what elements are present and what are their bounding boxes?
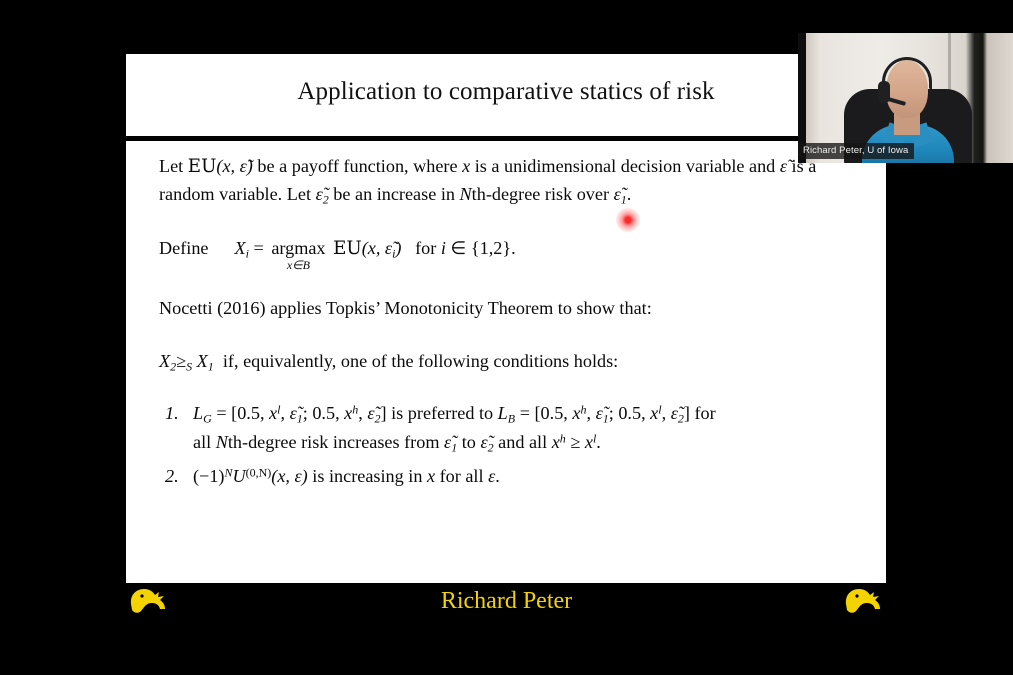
hawk-eye — [140, 594, 143, 597]
LB-eq: = [0.5, — [515, 403, 572, 423]
cont-b: th-degree risk increases from — [228, 432, 444, 452]
semi2: ; 0.5, — [609, 403, 650, 423]
argmax-label: argmax — [271, 239, 325, 257]
define-equation: Xi = argmax x∈B EU(x, ε̃i) for i ∈ {1,2}… — [234, 235, 515, 271]
page-title: Application to comparative statics of ri… — [126, 78, 886, 106]
condition-statement: X2≥S X1 if, equivalently, one of the fol… — [159, 348, 859, 376]
LG: L — [193, 403, 203, 423]
equation-define-argmax: Define Xi = argmax x∈B EU(x, ε̃i) for i … — [159, 235, 859, 271]
cont-d: and all — [494, 432, 552, 452]
close2: ] for — [684, 403, 716, 423]
list-item-number: 1. — [159, 400, 193, 427]
hawk-eye — [855, 594, 858, 597]
list-item: 2. (−1)NU(0,N)(x, ε) is increasing in x … — [159, 463, 859, 490]
conditions-list: 1. LG = [0.5, xl, ε̃1; 0.5, xh, ε̃2] is … — [159, 400, 859, 489]
LG-sub: G — [203, 412, 212, 426]
cont-a: all — [193, 432, 216, 452]
p1-eps1: ε̃ — [780, 156, 787, 176]
semi1: ; 0.5, — [303, 403, 344, 423]
argmax-operator: argmax x∈B — [271, 239, 325, 271]
U-sup: (0,N) — [246, 465, 272, 479]
LB: L — [498, 403, 508, 423]
list-item-body: (−1)NU(0,N)(x, ε) is increasing in x for… — [193, 463, 859, 490]
list-item-body: LG = [0.5, xl, ε̃1; 0.5, xh, ε̃2] is pre… — [193, 400, 859, 456]
p1-part2: be a payoff function, where — [253, 156, 462, 176]
paragraph-nocetti-reference: Nocetti (2016) applies Topkis’ Monotonic… — [159, 295, 859, 322]
xl: x — [269, 403, 277, 423]
cont-eps2: ε̃ — [480, 432, 487, 452]
p1-part1: Let — [159, 156, 188, 176]
LG-eq: = [0.5, — [212, 403, 269, 423]
cond-geq-sub: S — [186, 360, 192, 374]
hawkeye-glyph — [841, 585, 888, 617]
cond-X2: X — [159, 351, 170, 371]
p1-eps2: ε̃ — [316, 184, 323, 204]
p1-N: N — [460, 184, 472, 204]
cond-geq: ≥ — [176, 351, 186, 371]
cont-c: to — [457, 432, 480, 452]
slide: Application to comparative statics of ri… — [126, 54, 886, 583]
eps-2: ε̃ — [367, 403, 374, 423]
define-EU-args-open: (x, ε̃ — [362, 238, 392, 258]
p1-part7: . — [627, 184, 632, 204]
laser-pointer-dot — [616, 208, 640, 232]
eps-3: ε̃ — [596, 403, 603, 423]
neg-one-open: (−1) — [193, 466, 224, 486]
cont-geq: ≥ — [566, 432, 585, 452]
expected-utility-symbol: EU — [188, 156, 217, 177]
slide-body: Let EU(x, ε̃) be a payoff function, wher… — [159, 153, 859, 496]
mid1: , — [280, 403, 289, 423]
U-symbol: U — [232, 466, 245, 486]
define-X: X — [234, 238, 245, 258]
cont-xh: x — [552, 432, 560, 452]
cont-xl: x — [585, 432, 593, 452]
p1-eps3: ε̃ — [614, 184, 621, 204]
eps-1: ε̃ — [290, 403, 297, 423]
iowa-hawkeye-logo-icon — [126, 585, 173, 617]
hawkeye-glyph — [126, 585, 173, 617]
list-item-number: 2. — [159, 463, 193, 490]
eps-4: ε̃ — [671, 403, 678, 423]
slide-title-area: Application to comparative statics of ri… — [126, 54, 886, 134]
p1-x: x — [462, 156, 470, 176]
define-EU-args-close: ) — [395, 238, 401, 258]
li2-rest: is increasing in — [308, 466, 427, 486]
define-equals: = — [254, 238, 264, 258]
cond-X1-sub: 1 — [208, 360, 214, 374]
U-args: (x, ε) — [271, 466, 307, 486]
p1-part3: is a unidimensional decision variable an… — [470, 156, 780, 176]
cond-rest: if, equivalently, one of the following c… — [223, 351, 618, 371]
list-item-continuation: all Nth-degree risk increases from ε̃1 t… — [193, 429, 859, 457]
define-word: Define — [159, 235, 208, 262]
title-divider — [126, 136, 886, 141]
close1: ] is preferred to — [381, 403, 498, 423]
cond-X1: X — [197, 351, 208, 371]
p1-args1: (x, ε̃) — [216, 156, 252, 176]
mid3: , — [586, 403, 595, 423]
participant-name-label: Richard Peter, U of Iowa — [798, 143, 914, 159]
p1-part6: th-degree risk over — [472, 184, 614, 204]
li2-tail: for all — [435, 466, 488, 486]
define-EU: EU — [333, 238, 362, 259]
mid2: , — [358, 403, 367, 423]
li2-x: x — [427, 466, 435, 486]
mid4: , — [662, 403, 671, 423]
li2-end: . — [495, 466, 500, 486]
argmax-subscript: x∈B — [287, 259, 310, 271]
paragraph-payoff-function: Let EU(x, ε̃) be a payoff function, wher… — [159, 153, 859, 209]
presentation-stage: Application to comparative statics of ri… — [0, 0, 1013, 675]
cont-end: . — [596, 432, 601, 452]
presenter-webcam-video[interactable]: Richard Peter, U of Iowa — [798, 33, 1013, 163]
define-for: for — [415, 238, 441, 258]
cont-N: N — [216, 432, 228, 452]
define-X-sub: i — [246, 246, 249, 260]
p1-part5: be an increase in — [329, 184, 460, 204]
list-item: 1. LG = [0.5, xl, ε̃1; 0.5, xh, ε̃2] is … — [159, 400, 859, 456]
define-in-set: ∈ {1,2}. — [446, 238, 516, 258]
iowa-hawkeye-logo-icon — [841, 585, 888, 617]
